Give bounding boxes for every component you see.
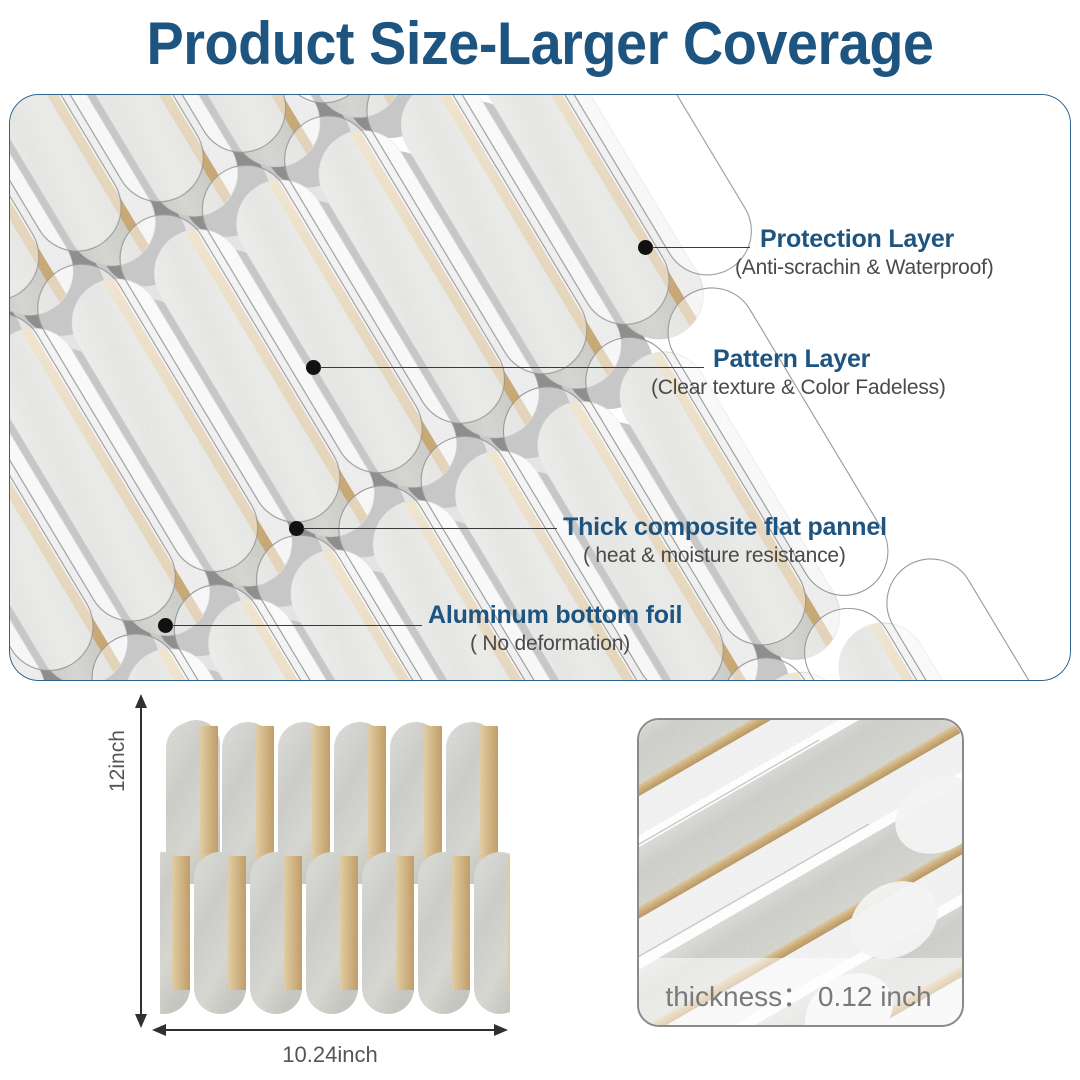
callout-title-composite: Thick composite flat pannel [563,512,887,542]
page-title: Product Size-Larger Coverage [38,4,1042,84]
dimension-diagram [0,686,540,1080]
callout-dot-aluminum [158,618,173,633]
height-dimension-label: 12inch [106,730,130,792]
product-spec-page: Product Size-Larger Coverage [0,0,1080,1080]
tile-sample-front-view [160,702,510,1032]
callout-leader-composite [303,528,557,529]
callout-subtitle-protection: (Anti-scrachin & Waterproof) [735,254,994,281]
callout-dot-pattern [306,360,321,375]
callout-title-pattern: Pattern Layer [713,344,870,374]
width-dimension-label: 10.24inch [152,1042,508,1068]
callout-dot-composite [289,521,304,536]
thickness-label: thickness： 0.12 inch [637,975,960,1015]
callout-subtitle-aluminum: ( No deformation) [470,630,630,657]
callout-title-aluminum: Aluminum bottom foil [428,600,682,630]
callout-dot-protection [638,240,653,255]
callout-title-protection: Protection Layer [760,224,954,254]
callout-leader-pattern [320,367,704,368]
callout-subtitle-pattern: (Clear texture & Color Fadeless) [651,374,946,401]
height-dimension-arrow [130,694,152,1028]
callout-leader-protection [652,247,750,248]
callout-subtitle-composite: ( heat & moisture resistance) [583,542,846,569]
width-dimension-arrow [152,1020,508,1040]
tile-pickets [160,722,510,1014]
callout-leader-aluminum [172,625,422,626]
